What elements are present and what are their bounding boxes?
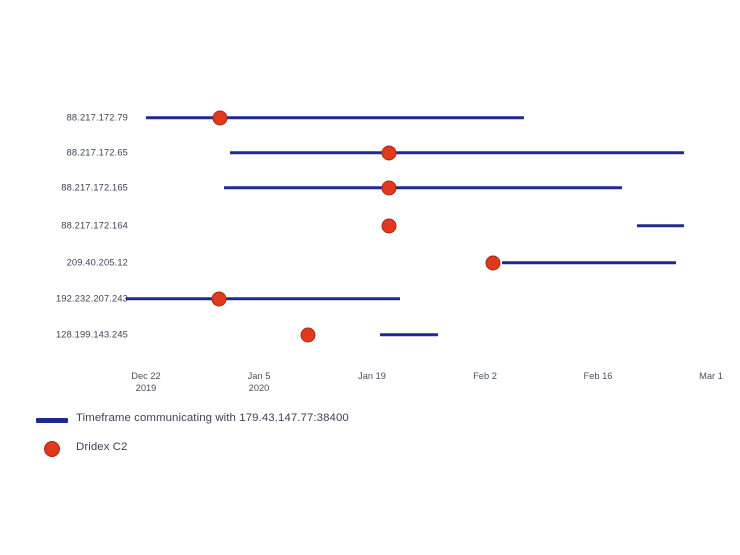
y-axis-label: 209.40.205.12 [67, 258, 128, 267]
legend-item-timeframe: Timeframe communicating with 179.43.147.… [36, 410, 456, 439]
dridex-c2-marker [212, 292, 227, 307]
x-axis-tick: Feb 2 [473, 371, 497, 383]
legend-item-label: Dridex C2 [76, 441, 128, 453]
legend-item-label: Timeframe communicating with 179.43.147.… [76, 412, 349, 424]
timeline-chart: 88.217.172.7988.217.172.6588.217.172.165… [0, 0, 740, 555]
dridex-c2-marker [382, 181, 397, 196]
legend-line-swatch-icon [36, 418, 68, 423]
y-axis-label: 192.232.207.243 [56, 294, 128, 303]
legend-item-dridex-c2: Dridex C2 [36, 439, 456, 468]
x-axis-tick-date: Mar 1 [699, 371, 723, 381]
dridex-c2-marker [382, 146, 397, 161]
y-axis-label: 128.199.143.245 [56, 330, 128, 339]
y-axis-label: 88.217.172.79 [67, 113, 128, 122]
timeframe-bar [224, 186, 622, 189]
legend-circle-swatch-icon [44, 441, 60, 457]
y-axis-label: 88.217.172.65 [67, 148, 128, 157]
timeframe-bar [230, 151, 684, 154]
timeframe-bar [126, 297, 400, 300]
x-axis-tick-date: Feb 2 [473, 371, 497, 381]
x-axis-tick-date: Jan 19 [358, 371, 386, 381]
chart-legend: Timeframe communicating with 179.43.147.… [36, 410, 456, 468]
x-axis-tick: Jan 52020 [248, 371, 271, 394]
x-axis-tick-year: 2020 [248, 383, 271, 395]
x-axis-tick-date: Feb 16 [584, 371, 613, 381]
x-axis-tick-date: Jan 5 [248, 371, 271, 381]
timeframe-bar [502, 261, 676, 264]
dridex-c2-marker [213, 111, 228, 126]
dridex-c2-marker [382, 219, 397, 234]
y-axis-label: 88.217.172.164 [61, 221, 128, 230]
x-axis-tick: Mar 1 [699, 371, 723, 383]
timeframe-bar [637, 224, 684, 227]
x-axis-tick: Jan 19 [358, 371, 386, 383]
dridex-c2-marker [486, 256, 501, 271]
timeframe-bar [146, 116, 524, 119]
x-axis-tick: Dec 222019 [131, 371, 160, 394]
y-axis-label: 88.217.172.165 [61, 183, 128, 192]
x-axis-tick-year: 2019 [131, 383, 160, 395]
x-axis-tick-date: Dec 22 [131, 371, 160, 381]
x-axis-tick: Feb 16 [584, 371, 613, 383]
timeframe-bar [380, 333, 438, 336]
dridex-c2-marker [301, 328, 316, 343]
